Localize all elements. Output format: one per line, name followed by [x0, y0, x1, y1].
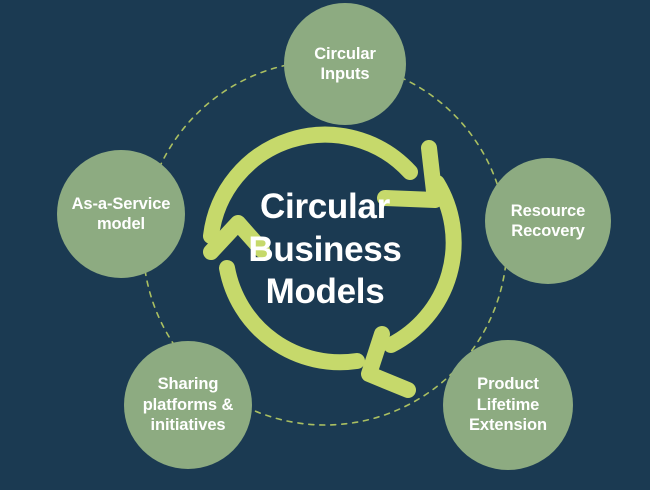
center-title: Circular Business Models — [175, 186, 475, 314]
node-product-lifetime-extension[interactable]: Product Lifetime Extension — [443, 340, 573, 470]
node-label-circular-inputs: Circular Inputs — [306, 44, 384, 85]
node-label-sharing-platforms-initiatives: Sharing platforms & initiatives — [135, 374, 242, 435]
node-sharing-platforms-initiatives[interactable]: Sharing platforms & initiatives — [124, 341, 252, 469]
cycle-diagram: Circular Inputs Resource Recovery Produc… — [0, 0, 650, 490]
node-label-product-lifetime-extension: Product Lifetime Extension — [461, 374, 555, 435]
node-resource-recovery[interactable]: Resource Recovery — [485, 158, 611, 284]
node-as-a-service-model[interactable]: As-a-Service model — [57, 150, 185, 278]
node-circular-inputs[interactable]: Circular Inputs — [284, 3, 406, 125]
node-label-resource-recovery: Resource Recovery — [503, 201, 593, 242]
node-label-as-a-service-model: As-a-Service model — [64, 194, 179, 235]
